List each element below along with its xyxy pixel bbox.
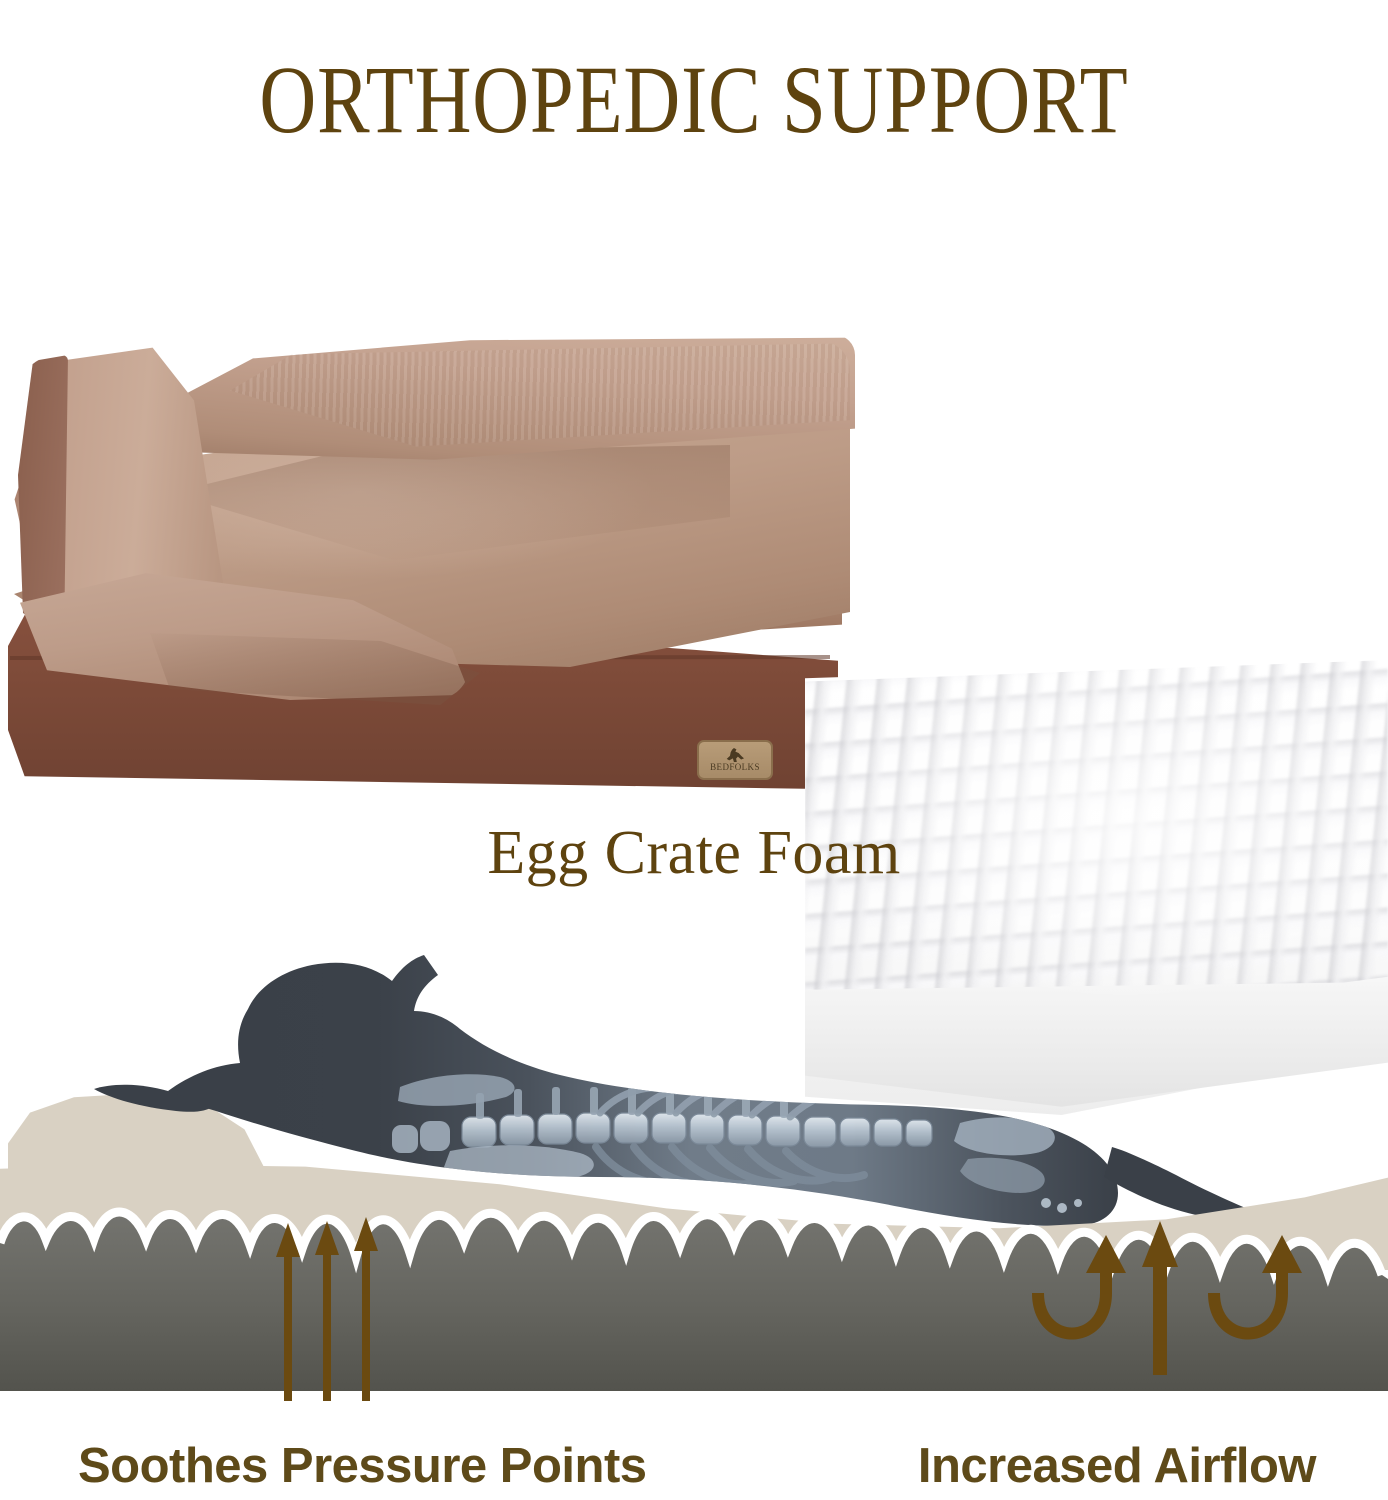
benefit-label-right: Increased Airflow xyxy=(918,1438,1316,1494)
bed-brand-tag: BEDFOLKS xyxy=(697,740,773,780)
bed-brand-tag-label: BEDFOLKS xyxy=(710,763,760,772)
dog-bed-photo xyxy=(0,325,860,795)
airflow-arrows xyxy=(1010,1215,1310,1415)
benefit-label-left: Soothes Pressure Points xyxy=(78,1438,647,1494)
infographic-page: ORTHOPEDIC SUPPORT BEDFOLKS Egg Crate xyxy=(0,0,1388,1500)
arrow-up-icon xyxy=(1142,1221,1178,1375)
running-dog-icon xyxy=(726,748,744,762)
product-photo-band xyxy=(0,325,1388,795)
airflow-curve-left-icon xyxy=(1032,1235,1126,1340)
airflow-curve-right-icon xyxy=(1208,1235,1302,1340)
page-title: ORTHOPEDIC SUPPORT xyxy=(125,52,1263,148)
pressure-point-arrows xyxy=(270,1215,400,1405)
arrow-up-icon xyxy=(276,1217,378,1401)
foam-caption: Egg Crate Foam xyxy=(0,818,1388,889)
